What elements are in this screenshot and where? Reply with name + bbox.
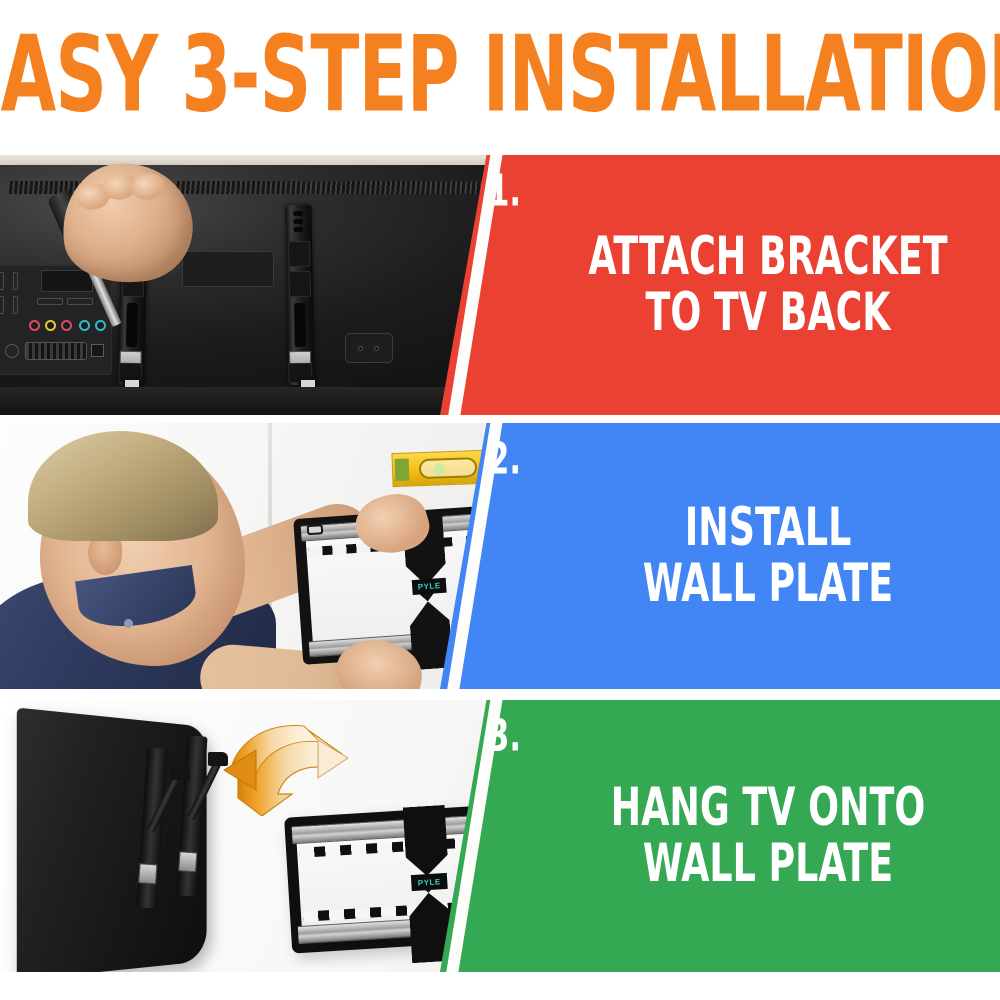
card-slots (0, 272, 23, 318)
mounting-rail-right (285, 205, 314, 385)
step-label: ATTACH BRACKET TO TV BACK (560, 229, 976, 341)
usb-port (37, 298, 63, 305)
step-2-color-wedge: 2. INSTALL WALL PLATE (440, 423, 1000, 689)
title-bar: EASY 3-STEP INSTALLATION (0, 0, 1000, 150)
step-number: 3. (488, 710, 521, 761)
step-1-color-wedge: 1. ATTACH BRACKET TO TV BACK (440, 155, 1000, 415)
curved-orange-arrow (222, 724, 372, 816)
tv-back-body (0, 165, 500, 415)
strap-buckle (122, 377, 142, 391)
step-label: INSTALL WALL PLATE (560, 500, 976, 612)
ventilation-slots (345, 181, 495, 194)
step-panel-1: 1. ATTACH BRACKET TO TV BACK (0, 155, 1000, 415)
polo-button (124, 619, 133, 628)
strap-buckle (298, 377, 318, 391)
pyle-logo: PYLE (411, 873, 448, 891)
bracket-hook (170, 766, 190, 780)
mounting-bolt (307, 524, 324, 535)
hdmi-port-block (41, 270, 93, 292)
level-end-cap (395, 459, 410, 481)
rca-jack-red (29, 320, 40, 331)
rca-jack-red (61, 320, 72, 331)
usb-port (67, 298, 93, 305)
rca-jack-yellow (45, 320, 56, 331)
power-jack (345, 333, 393, 363)
step-label: HANG TV ONTO WALL PLATE (560, 780, 976, 892)
hanging-strap (124, 383, 140, 415)
step-number: 2. (488, 433, 521, 484)
step-number: 1. (488, 165, 521, 216)
tilted-tv (17, 708, 207, 972)
hanging-strap (300, 383, 316, 415)
step-panel-2: PYLE 2. INSTALL WALL PLATE (0, 423, 1000, 689)
step-3-color-wedge: 3. HANG TV ONTO WALL PLATE (440, 700, 1000, 972)
level-vial (419, 457, 478, 479)
page-title: EASY 3-STEP INSTALLATION (0, 23, 1000, 128)
step-label-line: WALL PLATE (577, 830, 960, 897)
rca-jack-cyan (95, 320, 106, 331)
rca-jack-cyan (79, 320, 90, 331)
step-panel-3: PYLE 3. HANG TV ONTO WALL PLATE (0, 700, 1000, 972)
step-label-line: TO TV BACK (577, 279, 960, 346)
pyle-logo: PYLE (412, 578, 447, 595)
coax-port (5, 344, 19, 358)
vesa-plate (182, 251, 274, 287)
ethernet-port (91, 344, 104, 357)
comb-port-group (25, 342, 87, 360)
step-label-line: WALL PLATE (577, 550, 960, 617)
level-bubble (433, 463, 445, 475)
installation-infographic: EASY 3-STEP INSTALLATION (0, 0, 1000, 1000)
